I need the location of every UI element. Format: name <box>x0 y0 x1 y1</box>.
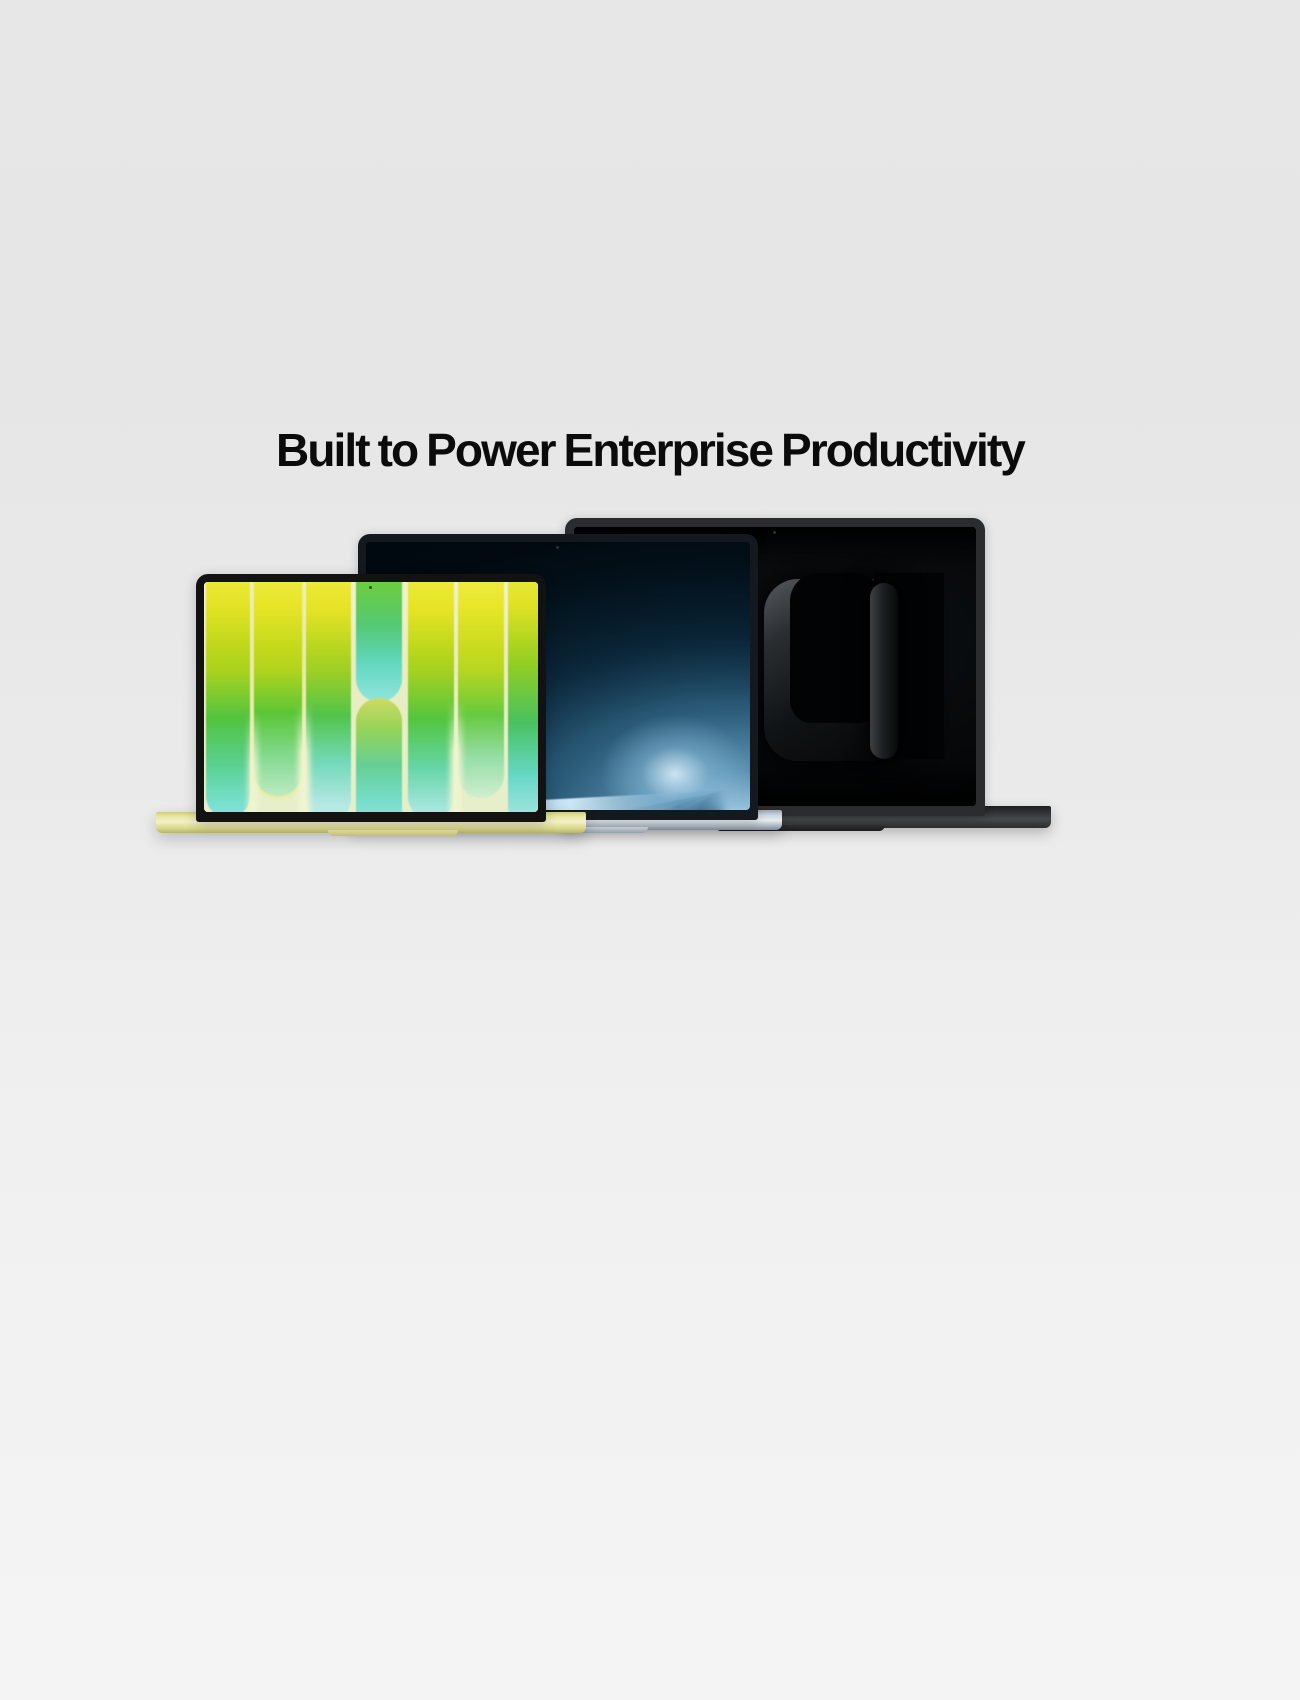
air-yellow-camera-dot <box>369 586 372 589</box>
hero-canvas: Built to Power Enterprise Productivity <box>0 0 1300 1700</box>
air-blue-camera-dot <box>556 546 559 549</box>
air-yellow-display-lid <box>196 574 546 822</box>
air-yellow-base-notch <box>328 830 458 836</box>
air-yellow-wallpaper <box>204 582 538 812</box>
macbook-air-yellow <box>196 574 566 874</box>
macbook-family-lineup <box>0 0 1300 1700</box>
air-yellow-screen <box>204 582 538 812</box>
